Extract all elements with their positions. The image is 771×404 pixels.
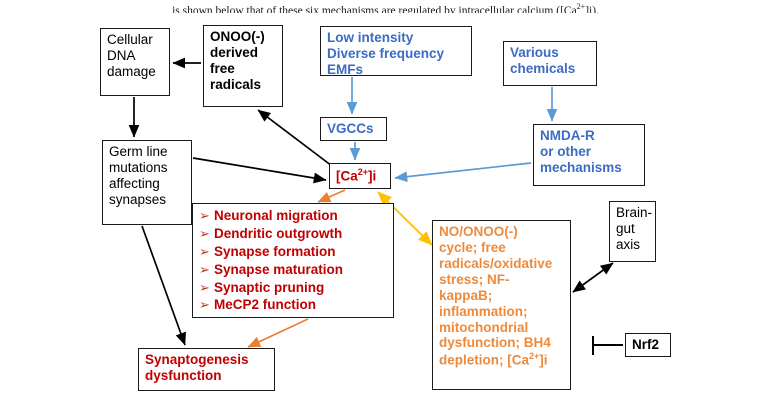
node-braingut-line2: gut <box>616 221 650 237</box>
node-noonoo-line9: depletion; [Ca2+]i <box>439 351 565 368</box>
node-intracellular-calcium[interactable]: [Ca2+]i <box>329 163 391 189</box>
node-braingut-line1: Brain- <box>616 205 650 221</box>
arrow-bullet-icon: ➢ <box>199 280 214 297</box>
list-item: ➢MeCP2 function <box>199 296 388 314</box>
arrow-bullet-icon: ➢ <box>199 297 214 314</box>
list-item-label: Synapse formation <box>214 244 336 259</box>
node-onooo-line4: radicals <box>210 77 277 93</box>
node-noonoo-line4: stress; NF- <box>439 272 565 288</box>
node-noonoo-line6: inflammation; <box>439 304 565 320</box>
node-mechanisms-list[interactable]: ➢Neuronal migration ➢Dendritic outgrowth… <box>192 203 394 318</box>
list-item-label: Neuronal migration <box>214 208 338 223</box>
node-emfs-line3: EMFs <box>327 62 466 78</box>
edge-nmdar-to-calcium <box>395 163 531 178</box>
arrow-bullet-icon: ➢ <box>199 262 214 279</box>
node-nmdar-line3: mechanisms <box>540 160 639 176</box>
node-nrf2-label: Nrf2 <box>632 337 665 353</box>
edge-germline-to-calcium <box>193 158 326 180</box>
calcium-superscript: 2+ <box>358 167 368 177</box>
node-emfs-line1: Low intensity <box>327 30 466 46</box>
node-germline-line4: synapses <box>109 192 186 208</box>
list-item: ➢Synaptic pruning <box>199 279 388 297</box>
node-nmda-receptor[interactable]: NMDA-R or other mechanisms <box>533 124 645 186</box>
calcium-prefix: [Ca <box>336 169 358 184</box>
list-item-label: Synaptic pruning <box>214 280 324 295</box>
node-synaptogenesis-dysfunction[interactable]: Synaptogenesis dysfunction <box>138 348 275 391</box>
node-synaptogenesis-line2: dysfunction <box>145 368 269 384</box>
node-various-chemicals-line2: chemicals <box>510 61 591 77</box>
node-brain-gut-axis[interactable]: Brain- gut axis <box>609 201 656 262</box>
node-nrf2[interactable]: Nrf2 <box>625 333 671 357</box>
node-noonoo-line5: kappaB; <box>439 288 565 304</box>
node-cellular-dna-line3: damage <box>107 64 164 80</box>
list-item: ➢Synapse maturation <box>199 261 388 279</box>
node-synaptogenesis-line1: Synaptogenesis <box>145 352 269 368</box>
node-noonoo-line3: radicals/oxidative <box>439 256 565 272</box>
arrow-bullet-icon: ➢ <box>199 244 214 261</box>
arrow-bullet-icon: ➢ <box>199 208 214 225</box>
node-cellular-dna-line2: DNA <box>107 48 164 64</box>
edge-germline-to-synaptogenesis <box>142 226 185 345</box>
node-noonoo-line1: NO/ONOO(-) <box>439 224 565 240</box>
list-item-label: MeCP2 function <box>214 297 316 312</box>
node-calcium-label: [Ca2+]i <box>336 167 385 184</box>
arrow-bullet-icon: ➢ <box>199 226 214 243</box>
calcium-suffix: ]i <box>368 169 376 184</box>
mechanisms-bullet-list: ➢Neuronal migration ➢Dendritic outgrowth… <box>199 207 388 314</box>
node-germline-line3: affecting <box>109 176 186 192</box>
node-vgccs[interactable]: VGCCs <box>320 117 387 141</box>
node-cellular-dna-damage[interactable]: Cellular DNA damage <box>100 28 170 96</box>
node-noonoo-line2: cycle; free <box>439 240 565 256</box>
noonoo-last-prefix: depletion; [Ca <box>439 353 529 368</box>
edge-no-onoo-cycle-to-brain-gut <box>573 263 613 292</box>
edge-mechanisms-list-to-synaptogenesis <box>248 319 308 347</box>
node-cellular-dna-line1: Cellular <box>107 32 164 48</box>
node-germline-line1: Germ line <box>109 144 186 160</box>
list-item: ➢Neuronal migration <box>199 207 388 225</box>
node-nmdar-line2: or other <box>540 144 639 160</box>
list-item: ➢Synapse formation <box>199 243 388 261</box>
node-no-onoo-cycle[interactable]: NO/ONOO(-) cycle; free radicals/oxidativ… <box>432 220 571 390</box>
node-onooo-derived-free-radicals[interactable]: ONOO(-) derived free radicals <box>203 25 283 107</box>
list-item: ➢Dendritic outgrowth <box>199 225 388 243</box>
node-germline-line2: mutations <box>109 160 186 176</box>
node-various-chemicals-line1: Various <box>510 45 591 61</box>
node-emfs-line2: Diverse frequency <box>327 46 466 62</box>
noonoo-last-suffix: ]i <box>539 353 547 368</box>
node-braingut-line3: axis <box>616 237 650 253</box>
node-vgccs-label: VGCCs <box>327 121 381 137</box>
node-various-chemicals[interactable]: Various chemicals <box>503 41 597 86</box>
node-germ-line-mutations[interactable]: Germ line mutations affecting synapses <box>102 140 192 225</box>
node-onooo-line2: derived <box>210 45 277 61</box>
edge-calcium-to-mechanisms-list <box>318 190 345 202</box>
node-low-intensity-emfs[interactable]: Low intensity Diverse frequency EMFs <box>320 26 472 76</box>
node-onooo-line1: ONOO(-) <box>210 29 277 45</box>
node-noonoo-line7: mitochondrial <box>439 320 565 336</box>
node-noonoo-line8: dysfunction; BH4 <box>439 335 565 351</box>
list-item-label: Synapse maturation <box>214 262 343 277</box>
node-nmdar-line1: NMDA-R <box>540 128 639 144</box>
node-onooo-line3: free <box>210 61 277 77</box>
list-item-label: Dendritic outgrowth <box>214 226 342 241</box>
noonoo-last-superscript: 2+ <box>529 351 539 361</box>
